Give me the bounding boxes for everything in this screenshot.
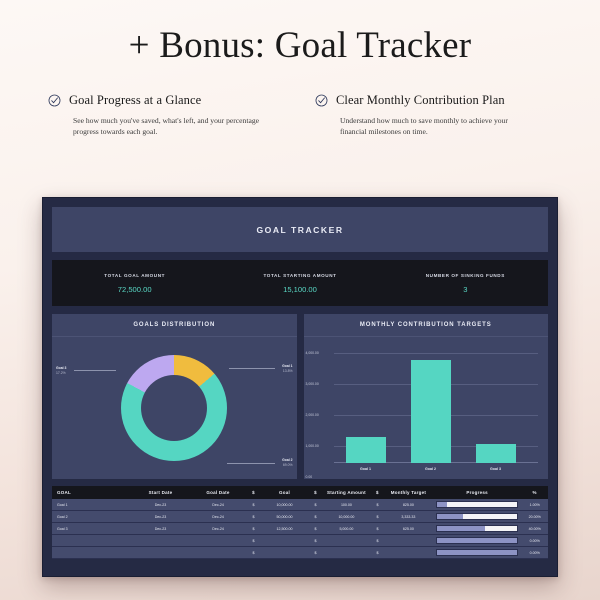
col-header-currency-1[interactable]: $ <box>247 486 260 499</box>
x-tick-label: Goal 2 <box>425 467 436 471</box>
check-circle-icon <box>48 94 61 112</box>
dashboard-title: GOAL TRACKER <box>52 207 548 252</box>
cell-monthly-target[interactable]: 825.00 <box>384 499 433 511</box>
charts-row: GOALS DISTRIBUTION Goal 1 13.8% Goal 2 6… <box>52 314 548 479</box>
cell-currency[interactable]: $ <box>309 547 322 559</box>
cell-currency[interactable]: $ <box>309 499 322 511</box>
cell-monthly-target[interactable] <box>384 547 433 559</box>
cell-start-date[interactable]: Dec-23 <box>132 511 190 523</box>
cell-progress <box>433 547 522 559</box>
cell-goal[interactable]: Goal 1 <box>52 499 132 511</box>
y-tick-label: 3,000.00 <box>306 382 319 386</box>
progress-bar-fill <box>437 538 518 543</box>
col-header-goal[interactable]: GOAL <box>52 486 132 499</box>
col-header-percent[interactable]: % <box>521 486 548 499</box>
cell-goal[interactable] <box>52 535 132 547</box>
cell-percent[interactable]: 0.00% <box>521 547 548 559</box>
table-row[interactable]: $$$0.00% <box>52 535 548 547</box>
feature-description: Understand how much to save monthly to a… <box>340 115 530 139</box>
donut-label-goal-2: Goal 2 69.0% <box>282 458 292 468</box>
progress-bar-fill <box>437 514 464 519</box>
cell-percent[interactable]: 1.00% <box>521 499 548 511</box>
cell-currency[interactable]: $ <box>371 547 384 559</box>
goal-tracker-dashboard: GOAL TRACKER TOTAL GOAL AMOUNT 72,500.00… <box>42 197 558 577</box>
donut-label-name: Goal 1 <box>282 364 292 368</box>
check-circle-icon <box>315 94 328 112</box>
summary-label: TOTAL GOAL AMOUNT <box>52 273 217 278</box>
donut-label-pct: 69.0% <box>282 463 292 468</box>
cell-currency[interactable]: $ <box>309 511 322 523</box>
col-header-progress[interactable]: Progress <box>433 486 522 499</box>
cell-goal[interactable]: Goal 2 <box>52 511 132 523</box>
col-header-goal-amount[interactable]: Goal <box>260 486 309 499</box>
donut-label-name: Goal 3 <box>56 366 66 370</box>
col-header-starting-amount[interactable]: Starting Amount <box>322 486 371 499</box>
cell-goal-date[interactable]: Dec-24 <box>189 523 247 535</box>
page-title: + Bonus: Goal Tracker <box>0 0 600 67</box>
cell-goal-date[interactable]: Dec-24 <box>189 499 247 511</box>
bar-chart-body: 4,000.00 3,000.00 2,000.00 1,000.00 0.00… <box>304 337 549 479</box>
summary-card-total-starting: TOTAL STARTING AMOUNT 15,100.00 <box>217 273 382 294</box>
y-tick-label: 1,000.00 <box>306 444 319 448</box>
cell-currency[interactable]: $ <box>371 511 384 523</box>
table-row[interactable]: Goal 2Dec-23Dec-24$50,000.00$10,000.00$3… <box>52 511 548 523</box>
cell-progress <box>433 499 522 511</box>
progress-bar-fill <box>437 550 518 555</box>
summary-value: 3 <box>383 285 548 294</box>
cell-progress <box>433 523 522 535</box>
summary-value: 15,100.00 <box>217 285 382 294</box>
donut-label-goal-1: Goal 1 13.8% <box>282 364 292 374</box>
donut-chart-body: Goal 1 13.8% Goal 2 69.0% Goal 3 17.2% <box>52 337 297 479</box>
col-header-currency-3[interactable]: $ <box>371 486 384 499</box>
summary-label: NUMBER OF SINKING FUNDS <box>383 273 548 278</box>
col-header-goal-date[interactable]: Goal Date <box>189 486 247 499</box>
summary-card-total-goal: TOTAL GOAL AMOUNT 72,500.00 <box>52 273 217 294</box>
progress-bar <box>436 501 519 508</box>
cell-percent[interactable]: 40.00% <box>521 523 548 535</box>
progress-bar-fill <box>437 526 485 531</box>
feature-item: Clear Monthly Contribution Plan Understa… <box>315 93 552 138</box>
cell-currency[interactable]: $ <box>247 535 260 547</box>
summary-strip: TOTAL GOAL AMOUNT 72,500.00 TOTAL STARTI… <box>52 260 548 306</box>
progress-bar <box>436 537 519 544</box>
table-body: Goal 1Dec-23Dec-24$10,000.00$100.00$825.… <box>52 499 548 559</box>
table-row[interactable]: Goal 1Dec-23Dec-24$10,000.00$100.00$825.… <box>52 499 548 511</box>
progress-bar <box>436 525 519 532</box>
feature-title: Clear Monthly Contribution Plan <box>336 93 552 109</box>
bar-goal-3 <box>476 444 516 463</box>
cell-start-date[interactable] <box>132 547 190 559</box>
bar-goal-1 <box>346 437 386 463</box>
cell-goal-amount[interactable] <box>260 547 309 559</box>
cell-goal-amount[interactable]: 10,000.00 <box>260 499 309 511</box>
cell-progress <box>433 535 522 547</box>
progress-bar-fill <box>437 502 447 507</box>
summary-card-sinking-funds: NUMBER OF SINKING FUNDS 3 <box>383 273 548 294</box>
cell-goal-date[interactable] <box>189 547 247 559</box>
cell-currency[interactable]: $ <box>309 535 322 547</box>
feature-title: Goal Progress at a Glance <box>69 93 285 109</box>
y-tick-label: 4,000.00 <box>306 351 319 355</box>
cell-goal[interactable]: Goal 3 <box>52 523 132 535</box>
summary-value: 72,500.00 <box>52 285 217 294</box>
table-row[interactable]: Goal 3Dec-23Dec-24$12,500.00$5,000.00$62… <box>52 523 548 535</box>
summary-label: TOTAL STARTING AMOUNT <box>217 273 382 278</box>
cell-percent[interactable]: 0.00% <box>521 535 548 547</box>
cell-monthly-target[interactable] <box>384 535 433 547</box>
cell-goal-date[interactable] <box>189 535 247 547</box>
progress-bar <box>436 549 519 556</box>
feature-description: See how much you've saved, what's left, … <box>73 115 263 139</box>
cell-currency[interactable]: $ <box>247 499 260 511</box>
cell-progress <box>433 511 522 523</box>
cell-start-date[interactable]: Dec-23 <box>132 499 190 511</box>
progress-bar <box>436 513 519 520</box>
cell-currency[interactable]: $ <box>247 523 260 535</box>
cell-goal-date[interactable]: Dec-24 <box>189 511 247 523</box>
donut-label-pct: 13.8% <box>282 369 292 374</box>
table-header-row: GOAL Start Date Goal Date $ Goal $ Start… <box>52 486 548 499</box>
cell-currency[interactable]: $ <box>247 547 260 559</box>
donut-label-pct: 17.2% <box>56 371 66 376</box>
donut-ring <box>121 355 227 461</box>
table-row[interactable]: $$$0.00% <box>52 547 548 559</box>
goals-distribution-chart: GOALS DISTRIBUTION Goal 1 13.8% Goal 2 6… <box>52 314 297 479</box>
cell-currency[interactable]: $ <box>371 499 384 511</box>
cell-currency[interactable]: $ <box>371 535 384 547</box>
cell-goal-amount[interactable]: 50,000.00 <box>260 511 309 523</box>
feature-item: Goal Progress at a Glance See how much y… <box>48 93 285 138</box>
feature-list: Goal Progress at a Glance See how much y… <box>0 93 600 138</box>
cell-starting-amount[interactable]: 5,000.00 <box>322 523 371 535</box>
col-header-start-date[interactable]: Start Date <box>132 486 190 499</box>
cell-currency[interactable]: $ <box>309 523 322 535</box>
x-tick-label: Goal 1 <box>360 467 371 471</box>
cell-start-date[interactable] <box>132 535 190 547</box>
cell-currency[interactable]: $ <box>247 511 260 523</box>
cell-starting-amount[interactable] <box>322 535 371 547</box>
cell-goal-amount[interactable] <box>260 535 309 547</box>
chart-title: MONTHLY CONTRIBUTION TARGETS <box>304 314 549 337</box>
x-tick-label: Goal 3 <box>490 467 501 471</box>
y-tick-label: 0.00 <box>306 475 313 479</box>
col-header-monthly-target[interactable]: Monthly Target <box>384 486 433 499</box>
chart-title: GOALS DISTRIBUTION <box>52 314 297 337</box>
monthly-contribution-chart: MONTHLY CONTRIBUTION TARGETS 4,000.00 3,… <box>304 314 549 479</box>
cell-goal[interactable] <box>52 547 132 559</box>
cell-starting-amount[interactable]: 100.00 <box>322 499 371 511</box>
col-header-currency-2[interactable]: $ <box>309 486 322 499</box>
cell-monthly-target[interactable]: 625.00 <box>384 523 433 535</box>
cell-starting-amount[interactable] <box>322 547 371 559</box>
cell-currency[interactable]: $ <box>371 523 384 535</box>
y-tick-label: 2,000.00 <box>306 413 319 417</box>
donut-label-name: Goal 2 <box>282 458 292 462</box>
cell-starting-amount[interactable]: 10,000.00 <box>322 511 371 523</box>
cell-percent[interactable]: 20.00% <box>521 511 548 523</box>
donut-label-goal-3: Goal 3 17.2% <box>56 366 66 376</box>
goals-table: GOAL Start Date Goal Date $ Goal $ Start… <box>52 486 548 559</box>
cell-goal-amount[interactable]: 12,500.00 <box>260 523 309 535</box>
cell-monthly-target[interactable]: 3,333.33 <box>384 511 433 523</box>
cell-start-date[interactable]: Dec-23 <box>132 523 190 535</box>
dashboard-title-text: GOAL TRACKER <box>256 225 343 235</box>
bar-goal-2 <box>411 360 451 463</box>
